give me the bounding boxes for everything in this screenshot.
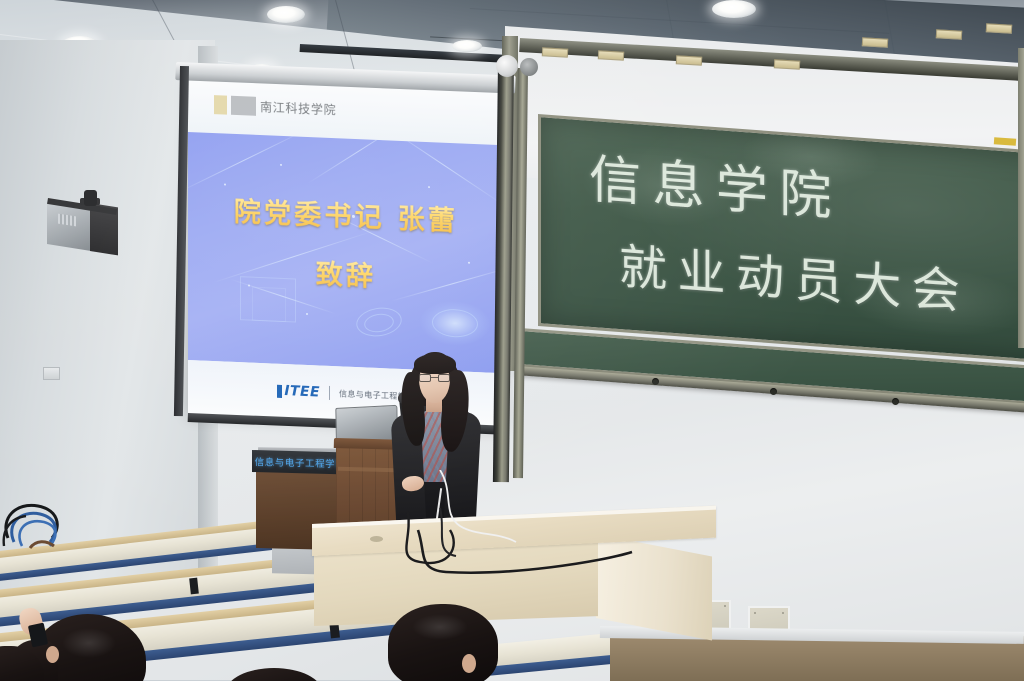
podium-sign: 信息与电子工程学院 — [252, 450, 348, 475]
blackboard: 信息学院 就业动员大会 — [538, 114, 1024, 364]
board-clip — [774, 59, 800, 69]
speaker-mount-bracket — [84, 190, 97, 206]
wall-outlet[interactable] — [43, 367, 60, 380]
board-clip — [598, 50, 624, 60]
ledge-hole — [770, 388, 777, 395]
itee-brand-text: ITEE — [284, 383, 320, 400]
seat-row-gap — [189, 578, 199, 595]
rail-roller — [496, 55, 518, 77]
itee-logo-icon: ITEE — [277, 383, 320, 401]
ceiling-downlight — [452, 40, 482, 52]
slide-title: 院党委书记 张蕾 — [188, 188, 504, 240]
logo-divider — [329, 386, 330, 400]
logo-text: 南江科技学院 — [260, 98, 336, 118]
lecture-hall-photo: 信息学院 就业动员大会 南江科技学院 — [0, 0, 1024, 681]
board-clip — [986, 23, 1012, 33]
board-clip — [542, 47, 568, 57]
rail-roller — [520, 58, 538, 76]
blackboard-top-track — [519, 38, 1024, 110]
student-ear — [46, 646, 59, 663]
student-head — [388, 604, 498, 681]
slide-body: 院党委书记 张蕾 致辞 — [188, 132, 504, 373]
glasses-icon — [419, 374, 450, 382]
slide-subtitle: 致辞 — [188, 247, 504, 299]
student-ear — [462, 654, 476, 673]
board-clip — [862, 37, 888, 47]
board-clip — [936, 29, 962, 39]
presenter-white-cable — [420, 470, 560, 550]
board-clip — [676, 55, 702, 65]
podium-sign-text: 信息与电子工程学院 — [255, 454, 346, 470]
cable-bundle — [0, 496, 120, 566]
logo-square-gray — [231, 96, 256, 116]
presenter-bangs — [414, 354, 456, 374]
blackboard-line-2: 就业动员大会 — [619, 227, 970, 323]
ledge-hole — [892, 398, 899, 405]
logo-square-gold — [214, 95, 227, 115]
ceiling-downlight — [267, 6, 305, 23]
blackboard-assembly: 信息学院 就业动员大会 — [500, 10, 1024, 490]
university-logo: 南江科技学院 — [214, 95, 336, 119]
yellow-tape-marker — [994, 137, 1016, 146]
blackboard-right-frame — [1018, 48, 1024, 348]
ledge-hole — [652, 378, 659, 385]
